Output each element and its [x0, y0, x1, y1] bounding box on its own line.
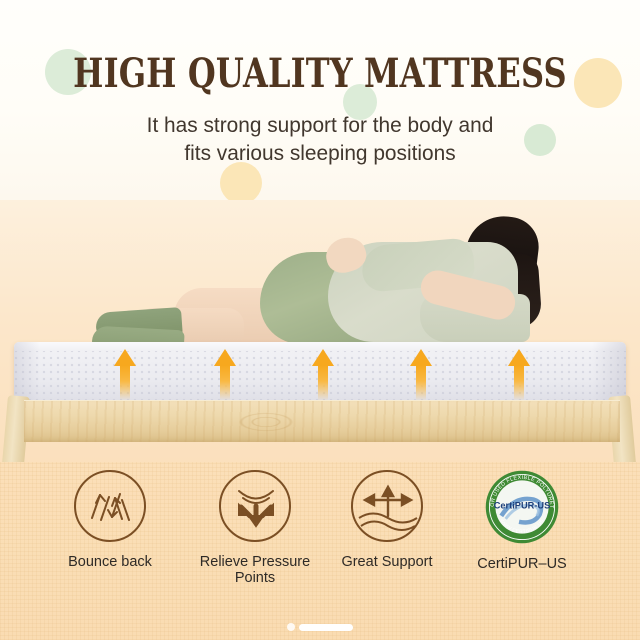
support-arrows-wave-icon [351, 470, 423, 542]
carousel-dot[interactable] [287, 623, 295, 631]
feature-label-line-1: Relieve Pressure [200, 554, 310, 570]
support-arrow [410, 349, 432, 401]
image-carousel-indicator[interactable] [287, 623, 353, 631]
badge-wordmark: CertiPUR-US [494, 500, 551, 510]
bounce-arrows-icon [74, 470, 146, 542]
subtitle-line-1: It has strong support for the body and [147, 113, 494, 137]
mattress [14, 342, 626, 404]
feature-label: Bounce back [30, 554, 190, 570]
product-scene-photo [0, 200, 640, 462]
feature-certipur-us[interactable]: CERTIFIED FOR USED FLEXIBLE POLYURETHANE… [442, 470, 602, 572]
support-arrow [214, 349, 236, 401]
feature-label-line-2: Points [235, 570, 275, 586]
bed-frame-rail [24, 400, 620, 442]
features-section: Bounce back [0, 462, 640, 640]
wood-grain-knot [234, 411, 298, 433]
carousel-scrollbar-thumb[interactable] [299, 624, 353, 631]
certipur-us-badge: CERTIFIED FOR USED FLEXIBLE POLYURETHANE… [485, 470, 559, 544]
mattress-right-shading [592, 342, 626, 404]
feature-bounce-back[interactable]: Bounce back [30, 470, 190, 570]
support-arrow [312, 349, 334, 401]
page-subtitle: It has strong support for the body and f… [10, 112, 631, 168]
pressure-relief-icon [219, 470, 291, 542]
cream-circle-right-top-icon [574, 58, 622, 108]
mattress-left-shading [14, 342, 40, 404]
support-arrow [508, 349, 530, 401]
support-arrow [114, 349, 136, 401]
header-section: HIGH QUALITY MATTRESS It has strong supp… [0, 0, 640, 200]
product-infographic-page: HIGH QUALITY MATTRESS It has strong supp… [0, 0, 640, 640]
feature-label: CertiPUR–US [442, 556, 602, 572]
page-title: HIGH QUALITY MATTRESS [64, 54, 576, 94]
subtitle-line-2: fits various sleeping positions [10, 140, 631, 168]
person-lying-illustration [90, 216, 560, 346]
